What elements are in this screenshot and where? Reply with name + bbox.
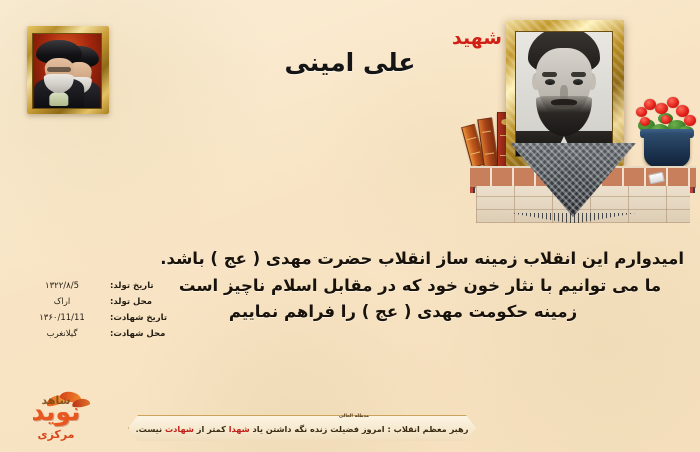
info-value: گیلانغرب — [14, 330, 110, 339]
banner-highlight-shahadat: شهادت — [165, 424, 194, 434]
quote-line-1: امیدوارم این انقلاب زمینه ساز انقلاب حضر… — [150, 246, 690, 273]
info-row-martyrdom-place: محل شهادت: گیلانغرب — [14, 330, 174, 339]
banner-highlight-shohada: شهدا — [229, 424, 250, 434]
logo-main-word: نوید — [10, 400, 102, 423]
info-value: ۱۳۶۰/11/11 — [14, 314, 110, 323]
banner-superscript: مدظله العالی — [128, 414, 476, 419]
info-value: ۱۳۲۲/۸/5 — [14, 282, 110, 291]
martyr-memorial-poster: علی امینی شهید — [0, 0, 700, 452]
banner-prefix: رهبر معظم انقلاب : امروز فضیلت زنده نگه … — [250, 424, 469, 434]
banner-suffix: نیست. — [136, 424, 165, 434]
info-value: اراک — [14, 298, 110, 307]
martyr-portrait-image — [515, 31, 613, 157]
info-label: محل شهادت: — [110, 330, 174, 339]
navid-shahed-logo[interactable]: شاهد نوید مرکزی — [6, 394, 102, 446]
martyr-quote: امیدوارم این انقلاب زمینه ساز انقلاب حضر… — [150, 246, 690, 326]
banner-quote-text: رهبر معظم انقلاب : امروز فضیلت زنده نگه … — [128, 424, 476, 434]
banner-middle: کمتر از — [194, 424, 229, 434]
logo-sub-word: مرکزی — [10, 428, 102, 441]
flower-pot — [644, 133, 690, 167]
quote-line-3: زمینه حکومت مهدی ( عج ) را فراهم نماییم — [150, 299, 690, 326]
quote-line-2: ما می توانیم با نثار خون خود که در مقابل… — [150, 273, 690, 300]
banner-superscript-text: مدظله العالی — [339, 414, 369, 419]
memorial-shelf-scene — [470, 0, 700, 245]
